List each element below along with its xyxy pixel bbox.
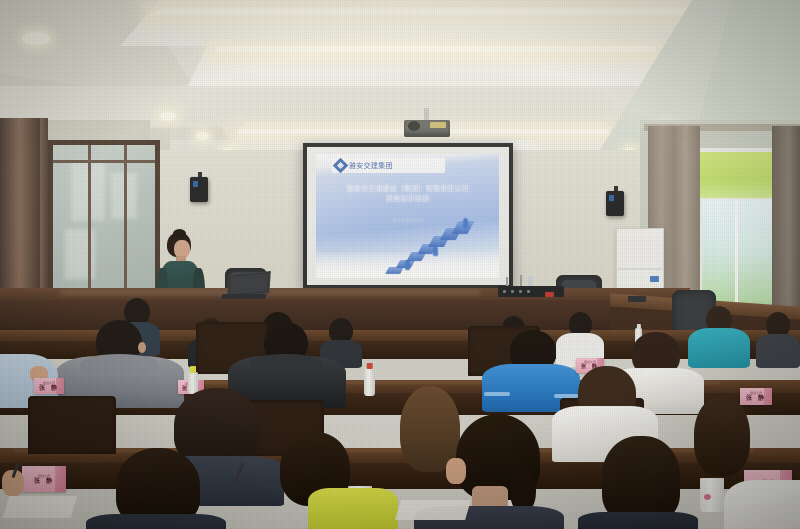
name-card: 培训人员 张 静 — [34, 378, 64, 394]
bottle-cap — [366, 363, 373, 369]
bottle-cap — [190, 366, 196, 373]
downlight-icon — [22, 32, 50, 45]
attendee-body — [578, 512, 698, 529]
attendee-hair — [602, 436, 680, 522]
wall-speaker-right — [606, 191, 624, 216]
attendee-foreground-yellow-jacket — [266, 440, 396, 529]
projection-screen: 雅安交建集团 雅安市交通建设（集团）有限责任公司 财务知识培训 财务部制作培训 — [303, 143, 513, 289]
av-button[interactable] — [503, 290, 506, 293]
screen-glare — [307, 147, 509, 285]
attendee-hand — [446, 458, 466, 484]
window-mullion — [124, 145, 127, 295]
attendee-body — [308, 488, 398, 529]
attendee-far-right-edge — [756, 312, 800, 364]
hoodie-hood — [80, 354, 158, 374]
cabinet-seam — [618, 268, 662, 270]
paper-cup-design — [704, 494, 711, 500]
name-card-fold — [764, 388, 772, 405]
side-table-device — [628, 296, 646, 302]
cove-light-2 — [215, 46, 655, 52]
attendee-hair — [694, 396, 750, 476]
projector-lens-icon — [408, 121, 420, 131]
wall-speaker-left — [190, 177, 208, 202]
laptop-screen — [229, 273, 268, 294]
av-control-panel[interactable] — [498, 286, 564, 297]
attendee-blue-shirt — [482, 330, 580, 404]
cove-light-1 — [150, 8, 730, 15]
shirt-stripe — [484, 392, 510, 396]
bottle-cap — [636, 324, 640, 329]
attendee-grey-hoodie — [56, 320, 184, 398]
av-button[interactable] — [511, 290, 514, 293]
attendee-body — [756, 334, 800, 368]
window-transom — [53, 160, 155, 163]
conference-room-photo: 雅安交建集团 雅安市交通建设（集团）有限责任公司 财务知识培训 财务部制作培训 — [0, 0, 800, 529]
downlight-icon — [196, 132, 209, 140]
attendee-body — [86, 514, 226, 529]
attendee-foreground-left — [86, 448, 226, 529]
attendee-ear — [138, 342, 146, 353]
av-indicator-light — [545, 292, 554, 297]
attendee-body — [724, 480, 800, 529]
interior-frosted-window-glass — [53, 145, 155, 295]
chair-back[interactable] — [28, 396, 116, 454]
av-button[interactable] — [527, 290, 530, 293]
av-button[interactable] — [519, 290, 522, 293]
projector-detail — [430, 122, 446, 128]
handout-paper — [3, 496, 77, 518]
name-card-fold — [55, 466, 66, 492]
projection-screen-surface: 雅安交建集团 雅安市交通建设（集团）有限责任公司 财务知识培训 财务部制作培训 — [307, 147, 509, 285]
cabinet-badge — [650, 276, 659, 282]
attendee-foreground-far-right-white — [724, 468, 800, 529]
laptop-keyboard[interactable] — [221, 294, 266, 299]
name-card: 培训人员 张 静 — [22, 466, 66, 492]
attendee-black-jacket — [228, 322, 346, 398]
downlight-icon — [160, 112, 176, 121]
water-bottle-white-2[interactable] — [364, 368, 375, 396]
jacket-hood — [250, 354, 322, 372]
window-top-light — [700, 152, 774, 198]
head-table-highlight — [60, 290, 480, 295]
attendee-foreground-right-hair — [578, 436, 698, 529]
name-card-name: 张 静 — [34, 478, 54, 485]
name-card-fold — [56, 378, 64, 394]
presenter-hair-bun — [173, 229, 186, 238]
handout-paper — [395, 500, 471, 520]
window-mullion — [88, 145, 91, 295]
